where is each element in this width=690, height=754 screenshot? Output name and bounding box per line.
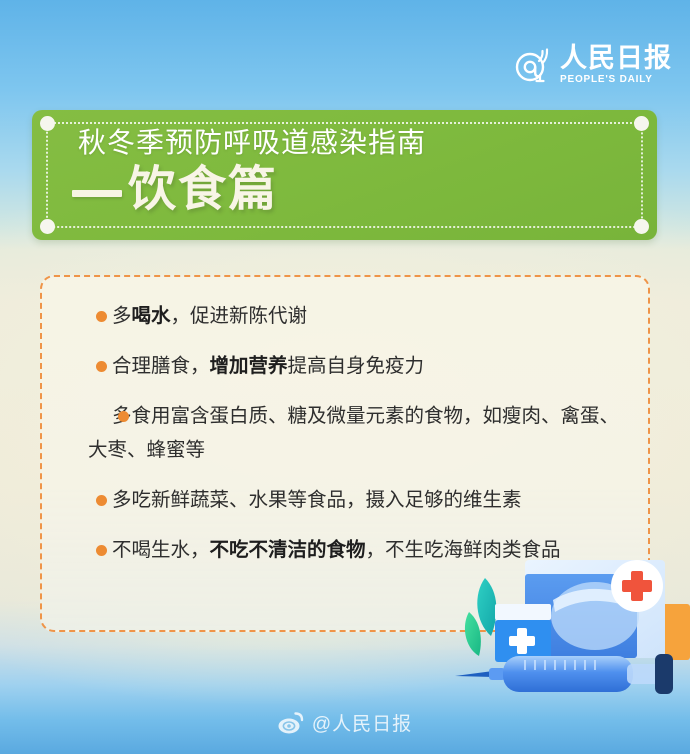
banner-subtitle: 饮食篇 bbox=[128, 162, 278, 218]
at-signal-icon bbox=[513, 44, 555, 86]
list-item: 多食用富含蛋白质、糖及微量元素的食物，如瘦肉、禽蛋、大枣、蜂蜜等 bbox=[60, 399, 630, 467]
banner-corner-dot-top-left bbox=[40, 116, 55, 131]
item-strong-text: 喝水 bbox=[132, 305, 171, 327]
header-banner: 秋冬季预防呼吸道感染指南 饮食篇 bbox=[32, 110, 657, 240]
banner-corner-dot-bottom-left bbox=[40, 219, 55, 234]
item-tail-text: ，促进新陈代谢 bbox=[171, 305, 308, 327]
banner-dash-mark bbox=[72, 190, 122, 197]
logo-english-name: PEOPLE'S DAILY bbox=[560, 74, 672, 86]
bullet-dot-icon bbox=[96, 311, 107, 322]
advice-list: 多喝水，促进新陈代谢 合理膳食，增加营养提高自身免疫力 多食用富含蛋白质、糖及微… bbox=[60, 299, 630, 567]
item-lead-text: 多 bbox=[112, 305, 132, 327]
item-lead-text: 多食用富含蛋白质、糖及微量元素的食物，如瘦肉、禽蛋、大枣、蜂蜜等 bbox=[88, 405, 619, 461]
syringe-barrel bbox=[503, 656, 633, 692]
syringe-needle bbox=[455, 671, 493, 677]
item-tail-text: 提高自身免疫力 bbox=[288, 355, 425, 377]
watermark-text: @人民日报 bbox=[312, 709, 412, 736]
peoples-daily-logo: 人民日报 PEOPLE'S DAILY bbox=[513, 44, 672, 86]
list-item: 多喝水，促进新陈代谢 bbox=[60, 299, 630, 333]
list-item: 合理膳食，增加营养提高自身免疫力 bbox=[60, 349, 630, 383]
syringe-plunger-head bbox=[655, 654, 673, 694]
banner-corner-dot-bottom-right bbox=[634, 219, 649, 234]
bullet-dot-icon bbox=[96, 545, 107, 556]
item-lead-text: 不喝生水， bbox=[112, 539, 210, 561]
advice-card: 多喝水，促进新陈代谢 合理膳食，增加营养提高自身免疫力 多食用富含蛋白质、糖及微… bbox=[40, 275, 650, 632]
syringe-tip bbox=[489, 668, 505, 680]
item-tail-text: ，不生吃海鲜肉类食品 bbox=[366, 539, 561, 561]
syringe-graduations bbox=[525, 660, 595, 670]
weibo-icon bbox=[278, 712, 304, 734]
bullet-dot-icon bbox=[118, 411, 129, 422]
list-item: 多吃新鲜蔬菜、水果等食品，摄入足够的维生素 bbox=[60, 483, 630, 517]
banner-title: 秋冬季预防呼吸道感染指南 bbox=[78, 124, 426, 162]
list-item: 不喝生水，不吃不清洁的食物，不生吃海鲜肉类食品 bbox=[60, 533, 630, 567]
item-lead-text: 多吃新鲜蔬菜、水果等食品，摄入足够的维生素 bbox=[112, 489, 522, 511]
banner-subtitle-row: 饮食篇 bbox=[72, 162, 278, 218]
orange-accent-block bbox=[661, 604, 690, 660]
logo-chinese-name: 人民日报 bbox=[560, 44, 672, 72]
bullet-dot-icon bbox=[96, 495, 107, 506]
banner-corner-dot-top-right bbox=[634, 116, 649, 131]
item-strong-text: 不吃不清洁的食物 bbox=[210, 539, 366, 561]
item-lead-text: 合理膳食， bbox=[112, 355, 210, 377]
bullet-dot-icon bbox=[96, 361, 107, 372]
poster-canvas: 人民日报 PEOPLE'S DAILY 秋冬季预防呼吸道感染指南 饮食篇 多喝水… bbox=[0, 0, 690, 754]
item-strong-text: 增加营养 bbox=[210, 355, 288, 377]
weibo-watermark: @人民日报 bbox=[0, 709, 690, 736]
syringe-plunger-shaft bbox=[627, 664, 663, 684]
